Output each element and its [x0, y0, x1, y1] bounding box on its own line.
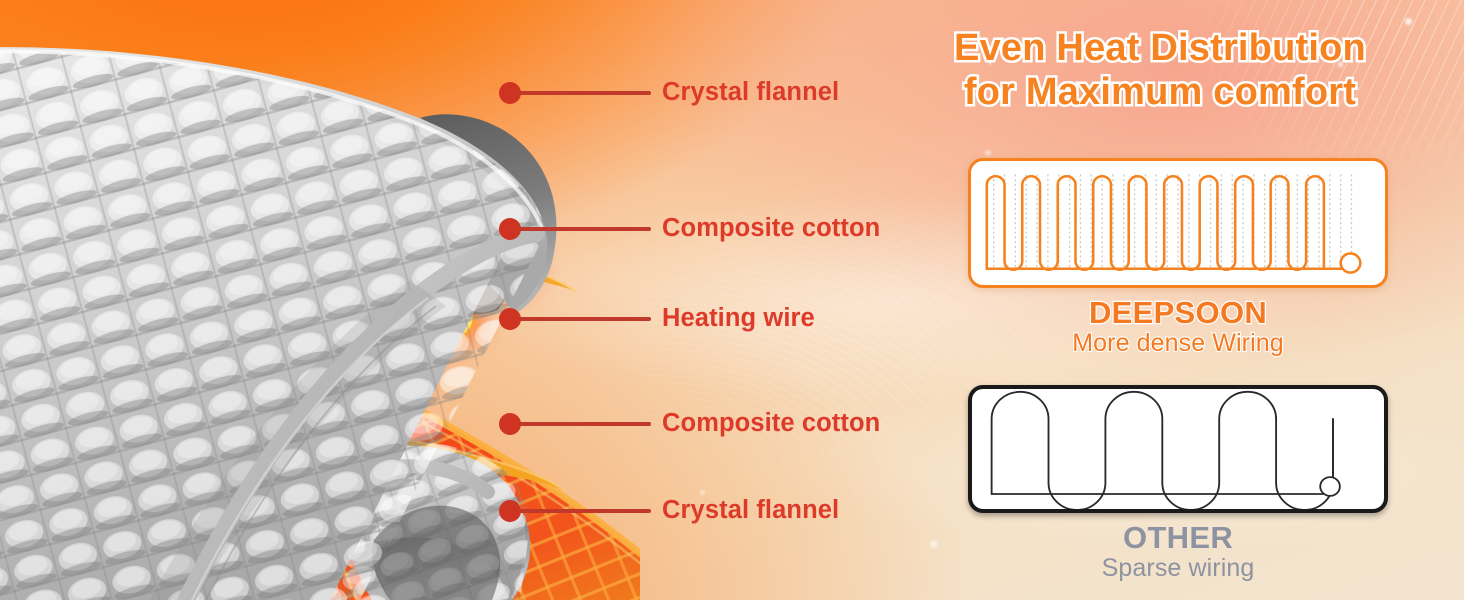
headline: Even Heat Distribution for Maximum comfo… — [900, 26, 1420, 114]
callout-composite-cotton-lower: Composite cotton — [499, 410, 880, 438]
callout-crystal-flannel-top: Crystal flannel — [499, 79, 839, 107]
callout-composite-cotton-upper: Composite cotton — [499, 215, 880, 243]
callout-dot-icon — [499, 413, 521, 435]
sparkle-dot — [930, 540, 938, 548]
callout-label: Composite cotton — [662, 216, 880, 242]
other-wiring-diagram — [968, 385, 1388, 513]
sparkle-dot — [700, 490, 705, 495]
infographic-canvas: Crystal flannel Composite cotton Heating… — [0, 0, 1464, 600]
callout-leader-line — [519, 91, 651, 95]
wire-terminal-icon — [1320, 477, 1340, 496]
deepsoon-brand-label: DEEPSOON — [968, 296, 1388, 329]
callout-label: Composite cotton — [662, 411, 880, 437]
deepsoon-wiring-diagram — [968, 158, 1388, 288]
callout-label: Crystal flannel — [662, 80, 839, 106]
deepsoon-subtitle: More dense Wiring — [968, 329, 1388, 358]
other-subtitle: Sparse wiring — [968, 554, 1388, 583]
callout-label: Heating wire — [662, 306, 815, 332]
other-brand-label: OTHER — [968, 521, 1388, 554]
headline-line-2: for Maximum comfort — [900, 70, 1420, 114]
sparkle-dot — [985, 150, 991, 156]
callout-dot-icon — [499, 218, 521, 240]
callout-heating-wire: Heating wire — [499, 305, 815, 333]
comparison-deepsoon: DEEPSOON More dense Wiring — [968, 158, 1388, 358]
callout-leader-line — [519, 509, 651, 513]
sparkle-dot — [1405, 18, 1412, 25]
comparison-other: OTHER Sparse wiring — [968, 385, 1388, 583]
headline-line-1: Even Heat Distribution — [900, 26, 1420, 70]
callout-leader-line — [519, 227, 651, 231]
callout-crystal-flannel-bottom: Crystal flannel — [499, 497, 839, 525]
callout-dot-icon — [499, 308, 521, 330]
callout-label: Crystal flannel — [662, 498, 839, 524]
callout-leader-line — [519, 317, 651, 321]
callout-dot-icon — [499, 82, 521, 104]
callout-leader-line — [519, 422, 651, 426]
callout-dot-icon — [499, 500, 521, 522]
wire-terminal-icon — [1341, 254, 1361, 273]
